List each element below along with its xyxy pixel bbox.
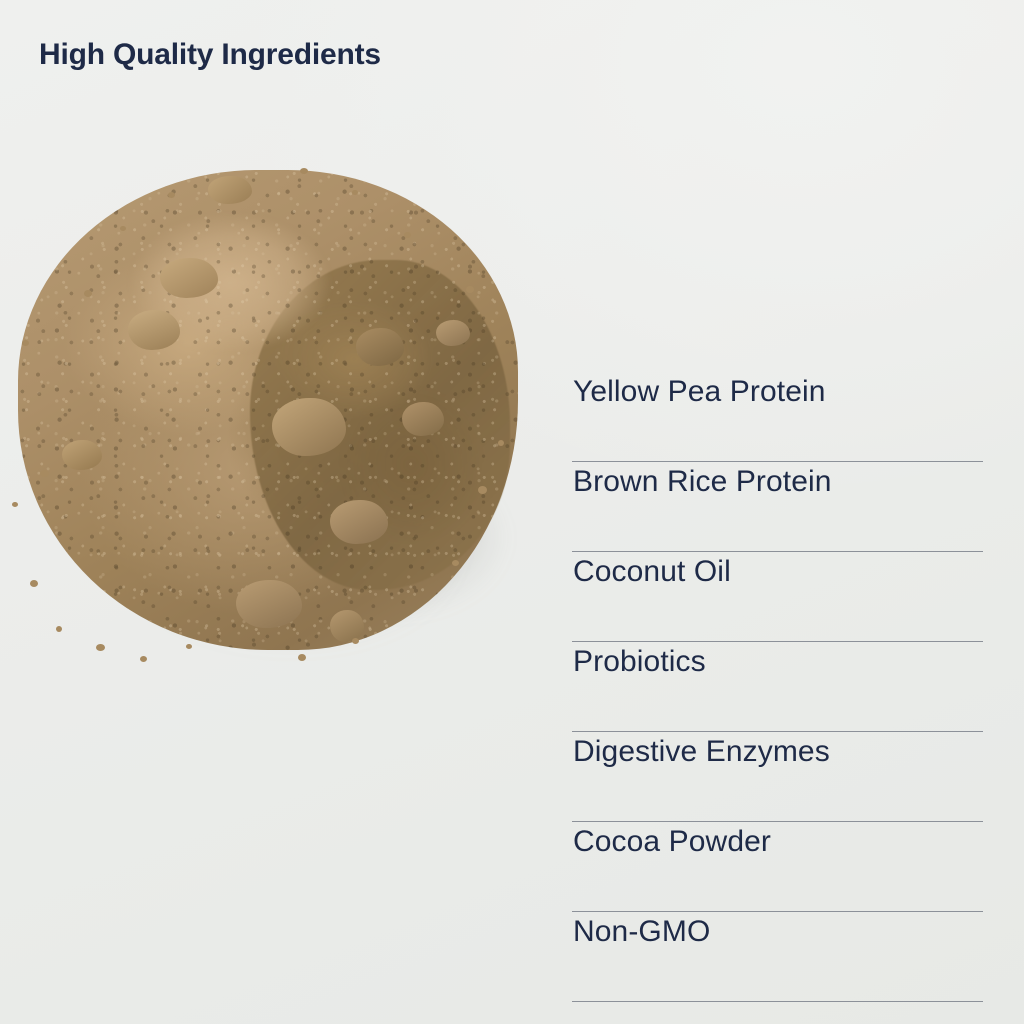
powder-granule (452, 560, 459, 566)
powder-granule (96, 644, 105, 651)
powder-granule (186, 644, 192, 649)
powder-clump (208, 176, 252, 204)
powder-clump (402, 402, 444, 436)
powder-clump (160, 258, 218, 298)
powder-clump (272, 398, 346, 456)
powder-granule (466, 286, 474, 293)
powder-granule (300, 168, 308, 174)
powder-granule (30, 580, 38, 587)
ingredient-item-probiotics[interactable]: Probiotics (572, 642, 983, 732)
powder-clump (330, 500, 388, 544)
powder-clump (330, 610, 364, 642)
ingredient-label: Probiotics (572, 642, 706, 677)
ingredient-item-coconut-oil[interactable]: Coconut Oil (572, 552, 983, 642)
ingredient-label: Brown Rice Protein (572, 462, 832, 497)
powder-clump (128, 310, 180, 350)
powder-granule (140, 656, 147, 662)
ingredient-item-cocoa-powder[interactable]: Cocoa Powder (572, 822, 983, 912)
powder-texture (18, 170, 518, 650)
powder-granule (120, 226, 126, 231)
ingredient-label: Coconut Oil (572, 552, 731, 587)
powder-granule (22, 340, 29, 346)
powder-clump (236, 580, 302, 628)
ingredient-item-brown-rice-protein[interactable]: Brown Rice Protein (572, 462, 983, 552)
ingredient-label: Cocoa Powder (572, 822, 771, 857)
powder-clump (356, 328, 404, 366)
powder-granule (352, 190, 358, 195)
ingredient-label: Yellow Pea Protein (572, 372, 826, 407)
powder-granule (84, 290, 92, 297)
powder-granule (352, 638, 359, 644)
ingredient-label: Non-GMO (572, 912, 710, 947)
powder-granule (404, 232, 411, 238)
powder-granule (168, 192, 175, 198)
protein-powder-image (0, 140, 545, 685)
powder-clump (62, 440, 102, 470)
powder-granule (478, 486, 487, 494)
ingredient-list: Yellow Pea Protein Brown Rice Protein Co… (572, 372, 983, 1002)
powder-granule (298, 654, 306, 661)
ingredient-label: Digestive Enzymes (572, 732, 830, 767)
powder-clump (436, 320, 470, 346)
ingredient-item-yellow-pea-protein[interactable]: Yellow Pea Protein (572, 372, 983, 462)
powder-granule (40, 470, 49, 477)
powder-granule (12, 502, 18, 507)
ingredient-item-digestive-enzymes[interactable]: Digestive Enzymes (572, 732, 983, 822)
page-title: High Quality Ingredients (39, 38, 381, 72)
ingredients-infographic: High Quality Ingredients (0, 0, 1024, 1024)
powder-granule (56, 626, 62, 632)
powder-granule (498, 440, 504, 446)
ingredient-item-non-gmo[interactable]: Non-GMO (572, 912, 983, 1002)
